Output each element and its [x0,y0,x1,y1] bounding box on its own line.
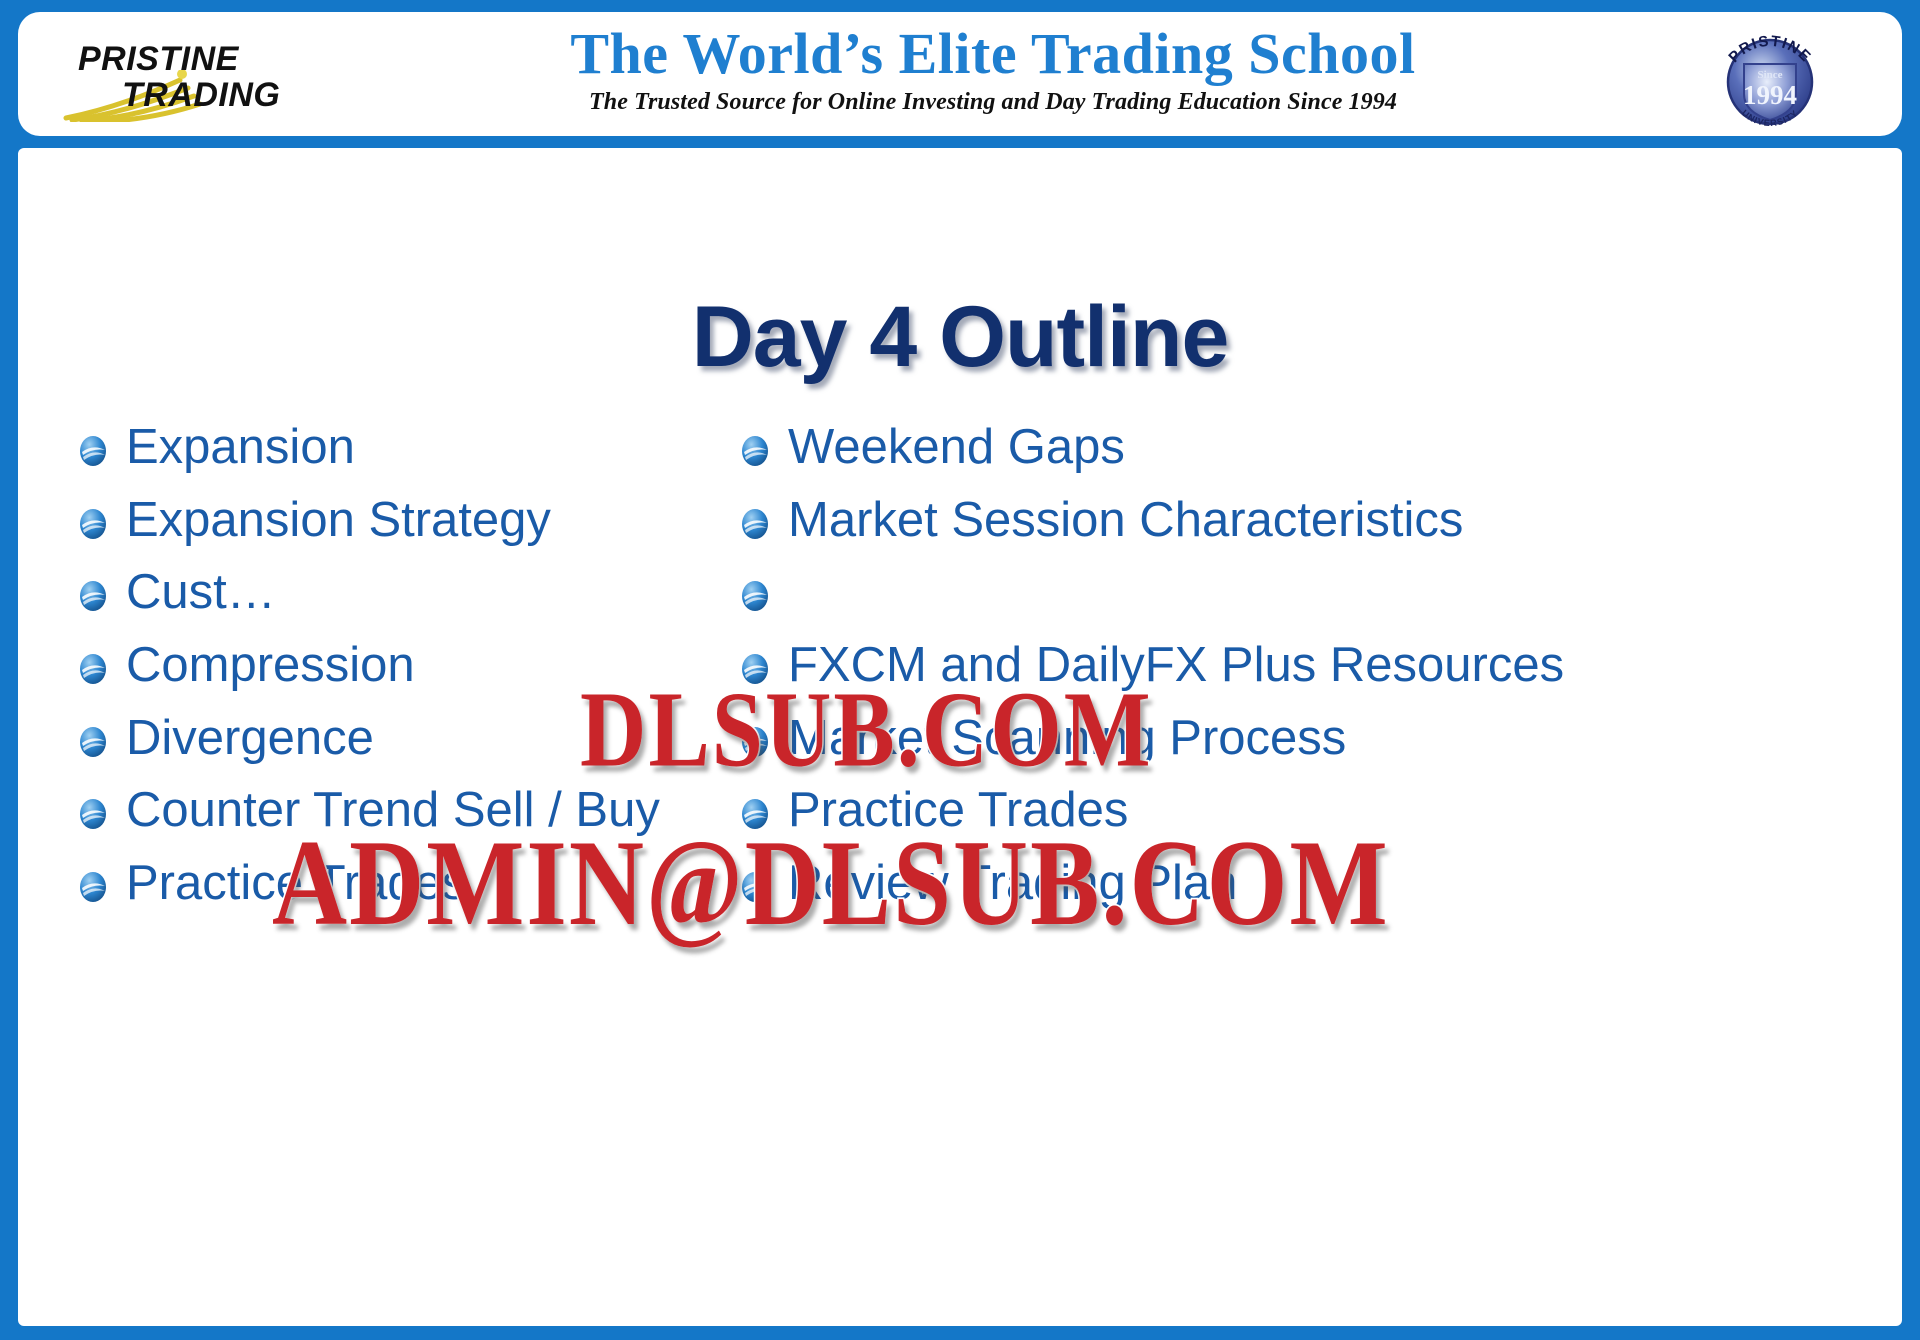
list-item-label [788,561,802,625]
blue-globe-bullet-icon [738,434,772,468]
list-item-label: FXCM and DailyFX Plus Resources [788,634,1564,698]
list-item-label: Practice Trades [788,779,1128,843]
list-item: Review Trading Plan [738,852,1818,916]
list-item-label: Cust… [126,561,276,625]
pristine-trading-logo: PRISTINE TRADING [60,26,310,126]
pristine-university-seal: Since 1994 PRISTINE UNIVERSITY [1708,20,1832,136]
list-item-label: Market Session Characteristics [788,489,1463,553]
list-item: Expansion [76,416,836,480]
blue-globe-bullet-icon [76,725,110,759]
list-item-label: Counter Trend Sell / Buy [126,779,660,843]
logo-line-1: PRISTINE [78,42,310,76]
list-item-label: Divergence [126,707,374,771]
list-item-label: Expansion Strategy [126,489,551,553]
right-bullet-column: Weekend Gaps Market Session Characterist… [738,416,1818,925]
blue-globe-bullet-icon [738,579,772,613]
list-item: Practice Trades [76,852,836,916]
blue-globe-bullet-icon [76,507,110,541]
slide-frame: PRISTINE TRADING The World’s Elite Tradi… [0,0,1920,1340]
blue-globe-bullet-icon [738,797,772,831]
blue-globe-bullet-icon [738,652,772,686]
list-item-label: Expansion [126,416,355,480]
blue-globe-bullet-icon [76,579,110,613]
blue-globe-bullet-icon [76,797,110,831]
list-item [738,561,1818,625]
list-item-label: Weekend Gaps [788,416,1125,480]
header-title: The World’s Elite Trading School [348,22,1638,87]
pristine-trading-wordmark: PRISTINE TRADING [78,42,310,116]
header-band: PRISTINE TRADING The World’s Elite Tradi… [8,10,1912,138]
list-item: Market Session Characteristics [738,489,1818,553]
slide-body: Day 4 Outline Expansion Expansion Strate… [18,148,1902,1326]
page-title: Day 4 Outline [18,288,1902,387]
list-item: Compression [76,634,836,698]
blue-globe-bullet-icon [76,652,110,686]
list-item: Divergence [76,707,836,771]
list-item-label: Compression [126,634,415,698]
blue-globe-bullet-icon [738,507,772,541]
list-item-label: Market Scanning Process [788,707,1346,771]
blue-globe-bullet-icon [76,870,110,904]
list-item: FXCM and DailyFX Plus Resources [738,634,1818,698]
left-bullet-column: Expansion Expansion Strategy Cust… Compr… [76,416,836,925]
blue-globe-bullet-icon [76,434,110,468]
header-subtitle: The Trusted Source for Online Investing … [348,89,1638,116]
svg-text:1994: 1994 [1743,80,1797,110]
list-item: Cust… [76,561,836,625]
logo-line-2: TRADING [122,78,310,112]
list-item-label: Practice Trades [126,852,466,916]
header-title-block: The World’s Elite Trading School The Tru… [348,22,1638,116]
list-item: Weekend Gaps [738,416,1818,480]
list-item-label: Review Trading Plan [788,852,1237,916]
header-card: PRISTINE TRADING The World’s Elite Tradi… [18,12,1902,136]
blue-globe-bullet-icon [738,725,772,759]
list-item: Market Scanning Process [738,707,1818,771]
list-item: Practice Trades [738,779,1818,843]
list-item: Counter Trend Sell / Buy [76,779,836,843]
pristine-university-seal-icon: Since 1994 PRISTINE UNIVERSITY [1708,20,1832,136]
blue-globe-bullet-icon [738,870,772,904]
list-item: Expansion Strategy [76,489,836,553]
